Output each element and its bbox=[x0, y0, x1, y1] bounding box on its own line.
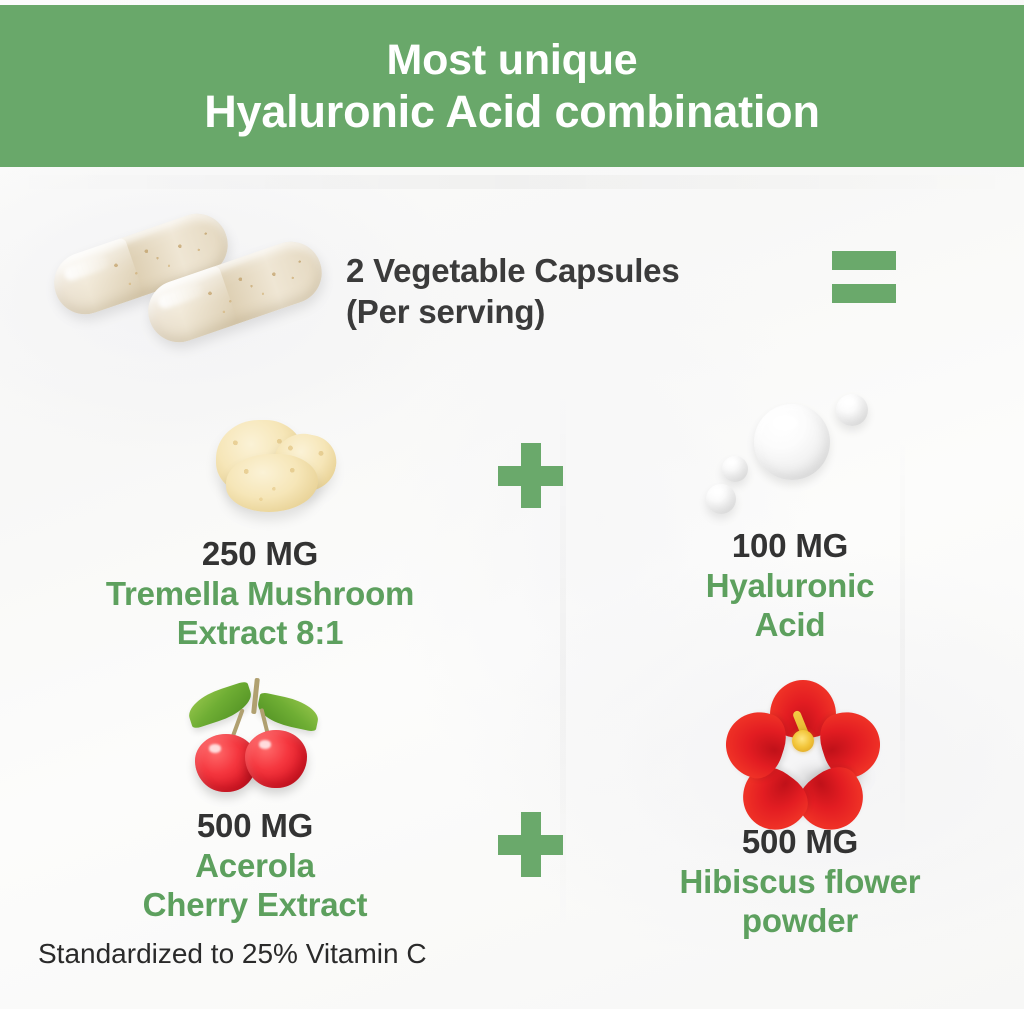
infographic-canvas: Most unique Hyaluronic Acid combination … bbox=[0, 0, 1024, 1009]
ingredient-name-line-2: Acid bbox=[590, 605, 990, 644]
equals-bar-bottom bbox=[832, 284, 896, 303]
plus-sign-icon bbox=[498, 443, 563, 508]
header-title-line-2: Hyaluronic Acid combination bbox=[204, 86, 820, 137]
plus-bar-vertical bbox=[521, 812, 541, 877]
hibiscus-flower-icon bbox=[710, 688, 890, 818]
serving-caption: 2 Vegetable Capsules (Per serving) bbox=[346, 250, 816, 332]
cherry-leaf-left bbox=[184, 681, 256, 730]
ingredient-tremella: 250 MG Tremella Mushroom Extract 8:1 bbox=[40, 400, 480, 652]
ingredient-hyaluronic-acid: 100 MG Hyaluronic Acid bbox=[590, 392, 990, 644]
ingredient-dose: 100 MG bbox=[590, 526, 990, 566]
droplet-small-bottom-left bbox=[706, 484, 736, 514]
ingredient-name-line-1: Acerola bbox=[30, 846, 480, 885]
serving-caption-line-1: 2 Vegetable Capsules bbox=[346, 250, 816, 291]
ingredient-name-line-2: Extract 8:1 bbox=[40, 613, 480, 652]
cherry-fruit-right bbox=[245, 730, 307, 788]
ingredient-name-line-1: Tremella Mushroom bbox=[40, 574, 480, 613]
ingredient-dose: 500 MG bbox=[600, 822, 1000, 862]
ingredient-dose: 500 MG bbox=[30, 806, 480, 846]
ingredient-hibiscus: 500 MG Hibiscus flower powder bbox=[600, 688, 1000, 940]
hibiscus-center bbox=[792, 730, 814, 752]
cherry-highlight bbox=[259, 740, 271, 748]
droplet-large bbox=[754, 404, 830, 480]
droplet-small-top-right bbox=[836, 394, 868, 426]
tremella-lobe bbox=[226, 454, 318, 512]
acerola-cherries-icon bbox=[165, 672, 345, 802]
ingredient-name-line-2: Cherry Extract bbox=[30, 885, 480, 924]
header-banner: Most unique Hyaluronic Acid combination bbox=[0, 5, 1024, 167]
ingredient-name-line-1: Hyaluronic bbox=[590, 566, 990, 605]
plus-sign-icon bbox=[498, 812, 563, 877]
droplet-small-mid-left bbox=[722, 456, 748, 482]
ingredient-dose: 250 MG bbox=[40, 534, 480, 574]
serving-caption-line-2: (Per serving) bbox=[346, 291, 816, 332]
ingredient-name-line-2: powder bbox=[600, 901, 1000, 940]
vitamin-c-footnote: Standardized to 25% Vitamin C bbox=[38, 937, 427, 971]
header-title-line-1: Most unique bbox=[387, 35, 638, 86]
paper-crease-decoration bbox=[0, 175, 1024, 189]
capsule-pair-icon bbox=[35, 225, 335, 355]
water-droplets-icon bbox=[700, 392, 880, 522]
ingredient-acerola: 500 MG Acerola Cherry Extract bbox=[30, 672, 480, 924]
plus-bar-vertical bbox=[521, 443, 541, 508]
tremella-mushroom-icon bbox=[170, 400, 350, 530]
equals-sign-icon bbox=[832, 251, 896, 303]
ingredient-name-line-1: Hibiscus flower bbox=[600, 862, 1000, 901]
cherry-highlight bbox=[209, 744, 221, 752]
equals-bar-top bbox=[832, 251, 896, 270]
